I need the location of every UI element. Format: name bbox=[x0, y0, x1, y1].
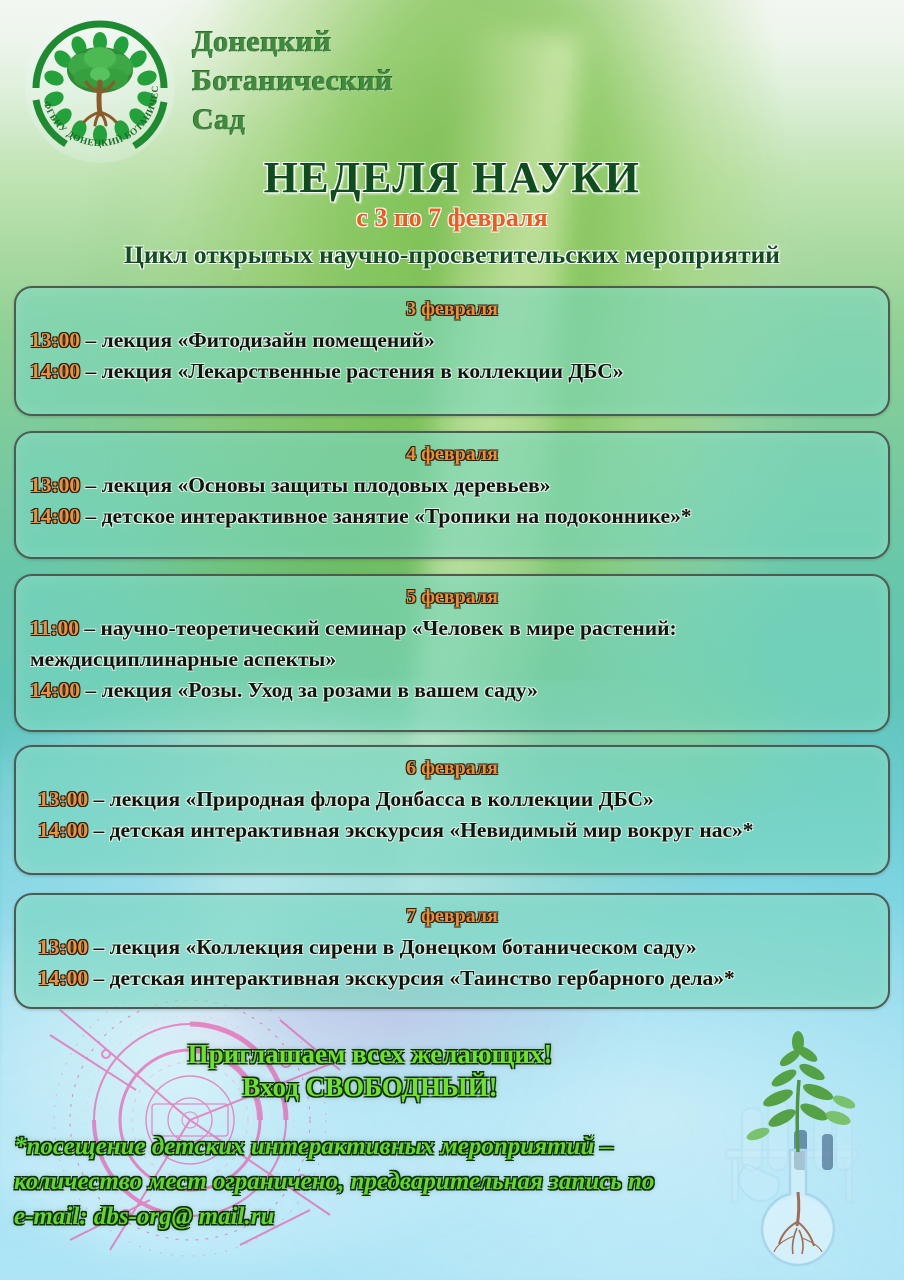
day-date-heading: 5 февраля bbox=[30, 586, 874, 609]
day-date-heading: 3 февраля bbox=[30, 298, 874, 321]
event-description: детское интерактивное занятие «Тропики н… bbox=[102, 504, 692, 528]
event-time: 13:00 bbox=[38, 935, 88, 959]
event-line: 14:00 – лекция «Лекарственные растения в… bbox=[30, 356, 874, 387]
day-schedule-box: 4 февраля13:00 – лекция «Основы защиты п… bbox=[14, 431, 890, 559]
event-line: 14:00 – детская интерактивная экскурсия … bbox=[30, 963, 874, 994]
event-line: 14:00 – лекция «Розы. Уход за розами в в… bbox=[30, 675, 874, 706]
poster-canvas: ФГБНУ ДОНЕЦКИЙ БОТАНИЧЕСКИЙ САД Донецкий… bbox=[0, 0, 904, 1280]
event-time: 13:00 bbox=[38, 787, 88, 811]
day-schedule-box: 3 февраля13:00 – лекция «Фитодизайн поме… bbox=[14, 286, 890, 416]
event-time: 14:00 bbox=[38, 966, 88, 990]
invitation-line-2: Вход СВОБОДНЫЙ! bbox=[0, 1071, 740, 1104]
event-line: 11:00 – научно-теоретический семинар «Че… bbox=[30, 613, 874, 675]
event-description: научно-теоретический семинар «Человек в … bbox=[30, 616, 677, 671]
event-dash: – bbox=[88, 787, 110, 811]
invitation-line-1: Приглашаем всех желающих! bbox=[0, 1038, 740, 1071]
day-schedule-box: 5 февраля11:00 – научно-теоретический се… bbox=[14, 574, 890, 732]
event-dash: – bbox=[80, 678, 102, 702]
event-dash: – bbox=[88, 935, 110, 959]
footnote-text: *посещение детских интерактивных меропри… bbox=[14, 1129, 774, 1234]
event-line: 14:00 – детская интерактивная экскурсия … bbox=[30, 815, 874, 846]
event-description: лекция «Розы. Уход за розами в вашем сад… bbox=[102, 678, 538, 702]
event-line: 13:00 – лекция «Фитодизайн помещений» bbox=[30, 325, 874, 356]
event-time: 13:00 bbox=[30, 473, 80, 497]
event-description: лекция «Коллекция сирени в Донецком бота… bbox=[110, 935, 697, 959]
footnote-line-1: *посещение детских интерактивных меропри… bbox=[14, 1129, 774, 1164]
event-description: лекция «Фитодизайн помещений» bbox=[102, 328, 435, 352]
day-schedule-box: 6 февраля13:00 – лекция «Природная флора… bbox=[14, 745, 890, 875]
event-dash: – bbox=[80, 473, 102, 497]
event-time: 13:00 bbox=[30, 328, 80, 352]
event-description: лекция «Природная флора Донбасса в колле… bbox=[110, 787, 654, 811]
event-dash: – bbox=[80, 328, 102, 352]
day-schedule-box: 7 февраля13:00 – лекция «Коллекция сирен… bbox=[14, 893, 890, 1009]
event-description: детская интерактивная экскурсия «Таинств… bbox=[110, 966, 735, 990]
day-date-heading: 6 февраля bbox=[30, 757, 874, 780]
event-dash: – bbox=[80, 504, 102, 528]
event-line: 13:00 – лекция «Природная флора Донбасса… bbox=[30, 784, 874, 815]
day-date-heading: 4 февраля bbox=[30, 443, 874, 466]
event-time: 14:00 bbox=[30, 678, 80, 702]
event-line: 13:00 – лекция «Коллекция сирени в Донец… bbox=[30, 932, 874, 963]
event-dash: – bbox=[80, 359, 102, 383]
event-dash: – bbox=[88, 966, 110, 990]
event-dash: – bbox=[79, 616, 101, 640]
event-line: 13:00 – лекция «Основы защиты плодовых д… bbox=[30, 470, 874, 501]
invitation-text: Приглашаем всех желающих! Вход СВОБОДНЫЙ… bbox=[0, 1038, 740, 1104]
event-description: детская интерактивная экскурсия «Невидим… bbox=[110, 818, 754, 842]
day-date-heading: 7 февраля bbox=[30, 905, 874, 928]
event-description: лекция «Лекарственные растения в коллекц… bbox=[102, 359, 624, 383]
event-dash: – bbox=[88, 818, 110, 842]
event-time: 11:00 bbox=[30, 616, 79, 640]
footnote-line-3: e-mail: dbs-org@ mail.ru bbox=[14, 1199, 774, 1234]
footnote-line-2: количество мест ограничено, предваритель… bbox=[14, 1164, 774, 1199]
event-description: лекция «Основы защиты плодовых деревьев» bbox=[102, 473, 551, 497]
event-line: 14:00 – детское интерактивное занятие «Т… bbox=[30, 501, 874, 532]
event-time: 14:00 bbox=[30, 504, 80, 528]
event-time: 14:00 bbox=[30, 359, 80, 383]
event-time: 14:00 bbox=[38, 818, 88, 842]
